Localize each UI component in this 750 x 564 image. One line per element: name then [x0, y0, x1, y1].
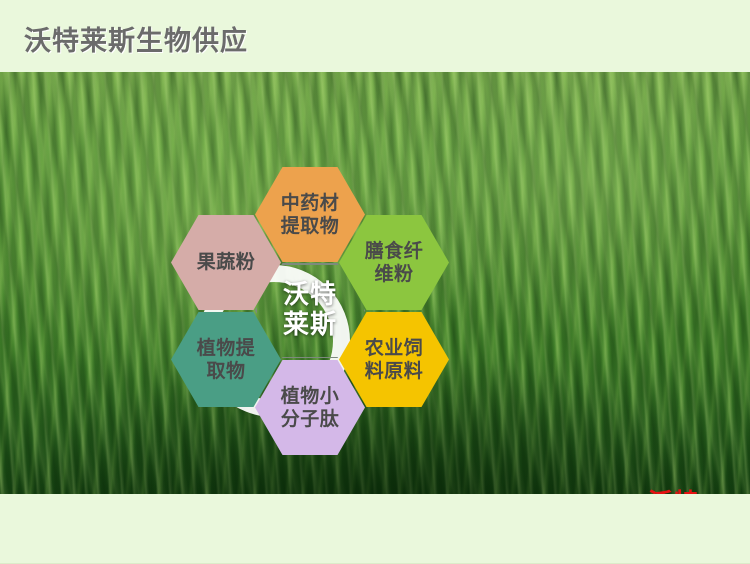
hex-node-lower-right-line1: 农业饲 — [356, 337, 432, 359]
header-bar: 沃特莱斯生物供应 — [0, 0, 750, 72]
hex-node-lower-right-line2: 料原料 — [356, 360, 432, 382]
hex-node-top-line2: 提取物 — [272, 215, 348, 237]
hex-node-center[interactable]: 沃特 莱斯 — [255, 263, 365, 358]
hex-node-bottom-line1: 植物小 — [272, 385, 348, 407]
hex-node-top-line1: 中药材 — [272, 192, 348, 214]
hexagon-diagram: 中药材 提取物 膳食纤 维粉 农业饲 料原料 植物小 分子肽 — [120, 157, 500, 494]
hero-image: 中药材 提取物 膳食纤 维粉 农业饲 料原料 植物小 分子肽 — [0, 72, 750, 494]
hex-node-lower-left-line1: 植物提 — [188, 337, 264, 359]
hex-center-label: 沃特 莱斯 — [280, 281, 340, 339]
hex-node-upper-right-line2: 维粉 — [356, 263, 432, 285]
page-title: 沃特莱斯生物供应 — [24, 19, 248, 58]
hex-center-line2: 莱斯 — [283, 310, 337, 340]
slide-canvas: 沃特莱斯生物供应 中药材 提取物 膳食纤 维粉 — [0, 0, 750, 564]
hex-node-upper-right-line1: 膳食纤 — [356, 240, 432, 262]
hex-node-bottom-line2: 分子肽 — [272, 408, 348, 430]
hex-node-upper-left-line1: 果蔬粉 — [188, 251, 264, 273]
hex-center-line1: 沃特 — [283, 280, 337, 310]
hex-node-lower-left-line2: 取物 — [188, 360, 264, 382]
footer-bar — [0, 494, 750, 564]
